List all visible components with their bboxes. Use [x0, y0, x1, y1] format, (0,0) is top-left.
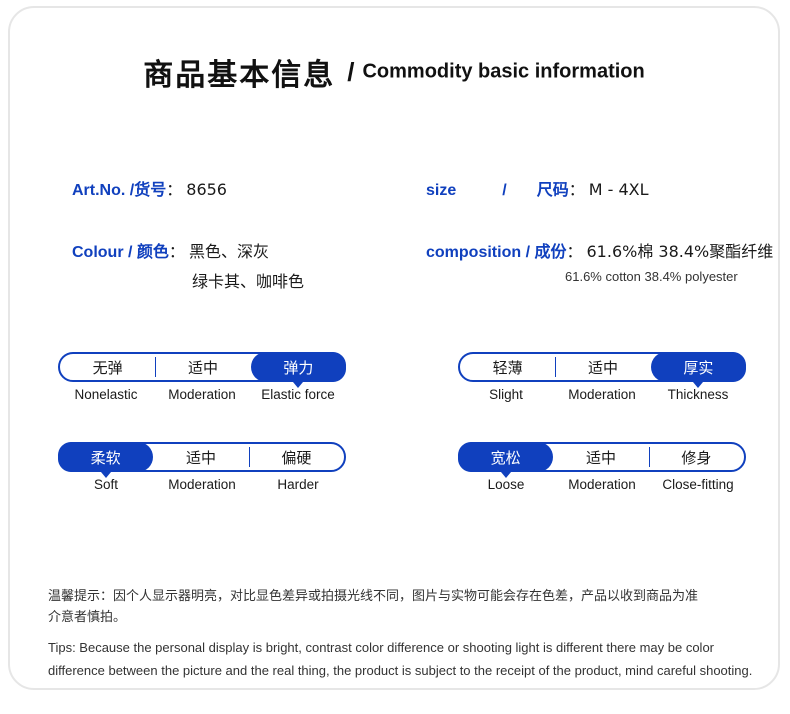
- field-composition-value: 61.6%棉 38.4%聚酯纤维: [587, 242, 774, 261]
- footer-disclaimer-cn: 温馨提示：因个人显示器明亮，对比显色差异或拍摄光线不同，图片与实物可能会存在色差…: [48, 586, 762, 628]
- scale-elasticity-pill[interactable]: 无弹 适中 弹力: [58, 352, 346, 382]
- scale-elasticity-sublabel-2: Elastic force: [250, 387, 346, 402]
- scale-softness-sublabel-1: Moderation: [154, 477, 250, 492]
- scale-softness-segment-1[interactable]: 适中: [153, 444, 248, 470]
- page-title-en: Commodity basic information: [362, 61, 644, 83]
- scale-fit-segment-1[interactable]: 适中: [553, 444, 648, 470]
- field-art-no-value: 8656: [186, 180, 227, 199]
- scale-elasticity-segment-2-label: 弹力: [283, 357, 313, 378]
- scale-thickness-segment-2[interactable]: 厚实: [651, 352, 746, 382]
- page-title: 商品基本信息/Commodity basic information: [10, 50, 778, 94]
- scale-fit-pill[interactable]: 宽松 适中 修身: [458, 442, 746, 472]
- scale-thickness-segment-0[interactable]: 轻薄: [460, 354, 555, 380]
- scale-fit: 宽松 适中 修身 Loose Moderation Close-fitting: [458, 442, 746, 492]
- scale-fit-sublabel-0: Loose: [458, 477, 554, 492]
- product-info-card: 商品基本信息/Commodity basic information Art.N…: [8, 6, 780, 690]
- scale-fit-segment-2[interactable]: 修身: [649, 444, 744, 470]
- scale-thickness-sublabel-2: Thickness: [650, 387, 746, 402]
- field-composition-label-cn: 成份: [534, 244, 566, 261]
- scale-elasticity-sublabel-1: Moderation: [154, 387, 250, 402]
- footer-disclaimer-cn-line2: 介意者慎拍。: [48, 610, 126, 625]
- scale-softness-sublabel-0: Soft: [58, 477, 154, 492]
- scale-thickness: 轻薄 适中 厚实 Slight Moderation Thickness: [458, 352, 746, 402]
- scale-fit-segment-0[interactable]: 宽松: [458, 442, 553, 472]
- field-colour-colon: ：: [169, 242, 185, 261]
- scale-thickness-pointer-icon: [693, 382, 703, 388]
- field-art-no-label-en: Art.No.: [72, 182, 125, 199]
- info-column-right: size/尺码：M - 4XL composition / 成份：61.6%棉 …: [426, 176, 773, 284]
- field-colour: Colour / 颜色：黑色、深灰 绿卡其、咖啡色: [72, 238, 304, 292]
- scale-softness-segment-0[interactable]: 柔软: [58, 442, 153, 472]
- scale-thickness-sublabel-1: Moderation: [554, 387, 650, 402]
- scale-softness: 柔软 适中 偏硬 Soft Moderation Harder: [58, 442, 346, 492]
- scale-softness-sublabel-2: Harder: [250, 477, 346, 492]
- scale-fit-sublabel-1: Moderation: [554, 477, 650, 492]
- field-art-no: Art.No. /货号：8656: [72, 176, 304, 200]
- field-composition-value-en: 61.6% cotton 38.4% polyester: [426, 269, 773, 284]
- scale-fit-pointer-icon: [501, 472, 511, 478]
- field-size-slash: /: [502, 182, 506, 199]
- scale-fit-sublabels: Loose Moderation Close-fitting: [458, 477, 746, 492]
- scale-elasticity-segment-2[interactable]: 弹力: [251, 352, 346, 382]
- scale-softness-sublabels: Soft Moderation Harder: [58, 477, 346, 492]
- scale-elasticity: 无弹 适中 弹力 Nonelastic Moderation Elastic f…: [58, 352, 346, 402]
- field-size-colon: ：: [569, 180, 585, 199]
- page-title-slash: /: [347, 57, 354, 87]
- scale-elasticity-sublabels: Nonelastic Moderation Elastic force: [58, 387, 346, 402]
- scale-softness-pointer-icon: [101, 472, 111, 478]
- field-size: size/尺码：M - 4XL: [426, 176, 773, 200]
- field-colour-value: 黑色、深灰: [189, 242, 269, 261]
- field-size-label-en: size: [426, 182, 456, 199]
- field-composition-colon: ：: [566, 242, 582, 261]
- footer-disclaimer-en: Tips: Because the personal display is br…: [48, 636, 762, 682]
- scale-elasticity-segment-0[interactable]: 无弹: [60, 354, 155, 380]
- scale-elasticity-pointer-icon: [293, 382, 303, 388]
- field-composition-label-en: composition: [426, 244, 521, 261]
- info-column-left: Art.No. /货号：8656 Colour / 颜色：黑色、深灰 绿卡其、咖…: [72, 176, 304, 292]
- field-size-value: M - 4XL: [589, 180, 649, 199]
- scale-thickness-pill[interactable]: 轻薄 适中 厚实: [458, 352, 746, 382]
- scale-elasticity-sublabel-0: Nonelastic: [58, 387, 154, 402]
- scale-thickness-segment-1[interactable]: 适中: [555, 354, 650, 380]
- scale-thickness-segment-2-label: 厚实: [683, 357, 713, 378]
- field-colour-label-cn: 颜色: [137, 244, 169, 261]
- scale-thickness-sublabel-0: Slight: [458, 387, 554, 402]
- scale-fit-sublabel-2: Close-fitting: [650, 477, 746, 492]
- scale-softness-segment-0-label: 柔软: [91, 447, 121, 468]
- scale-thickness-sublabels: Slight Moderation Thickness: [458, 387, 746, 402]
- scale-elasticity-segment-1[interactable]: 适中: [155, 354, 250, 380]
- footer-disclaimer-en-line1: Tips: Because the personal display is br…: [48, 640, 714, 655]
- footer-disclaimer: 温馨提示：因个人显示器明亮，对比显色差异或拍摄光线不同，图片与实物可能会存在色差…: [48, 586, 762, 682]
- field-size-label-cn: 尺码: [537, 182, 569, 199]
- footer-disclaimer-en-line2: difference between the picture and the r…: [48, 663, 752, 678]
- field-colour-value-line2: 绿卡其、咖啡色: [72, 268, 304, 292]
- scale-softness-segment-2[interactable]: 偏硬: [249, 444, 344, 470]
- field-composition: composition / 成份：61.6%棉 38.4%聚酯纤维 61.6% …: [426, 238, 773, 284]
- field-art-no-label-cn: 货号: [134, 182, 166, 199]
- page-title-cn: 商品基本信息: [143, 58, 335, 93]
- scale-fit-segment-0-label: 宽松: [491, 447, 521, 468]
- field-colour-label-en: Colour: [72, 244, 124, 261]
- footer-disclaimer-cn-line1: 温馨提示：因个人显示器明亮，对比显色差异或拍摄光线不同，图片与实物可能会存在色差…: [48, 589, 698, 604]
- scale-softness-pill[interactable]: 柔软 适中 偏硬: [58, 442, 346, 472]
- field-art-no-colon: ：: [166, 180, 182, 199]
